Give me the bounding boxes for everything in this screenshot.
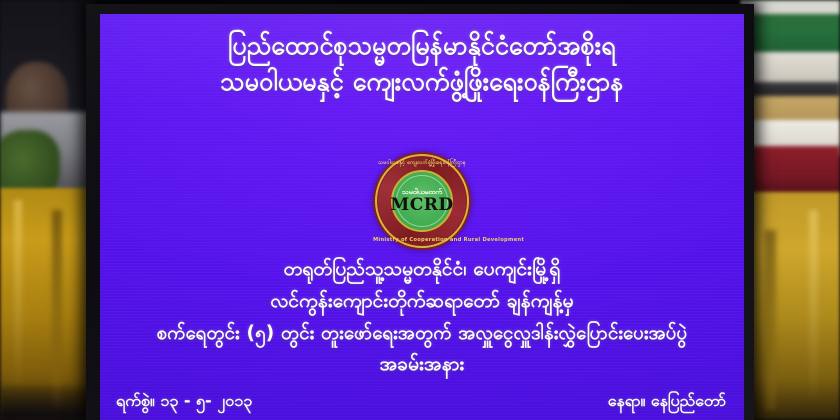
body-line-2: လင်ကွန်းကျောင်းတိုက်ဆရာတော် ချန်ကျန့်မှ <box>100 290 744 314</box>
background-floor-shadow <box>0 386 96 420</box>
background-room-right <box>740 0 840 420</box>
slide-header: ပြည်ထောင်စုသမ္မတမြန်မာနိုင်ငံတော်အစိုးရ … <box>100 30 744 103</box>
seal-arc-top-text: သမဝါယမနှင့် ကျေးလက်ဖွံ့ဖြိုးရေးဝန်ကြီးဌာ… <box>373 159 471 167</box>
curtain-fold <box>52 210 62 410</box>
seal-abbreviation: MCRD <box>390 197 453 214</box>
body-line-1: တရုတ်ပြည်သူ့သမ္မတနိုင်ငံ၊ ပေကျင်းမြို့ရှ… <box>100 258 744 282</box>
background-red-banner <box>740 146 840 198</box>
footer-date: ရက်စွဲ။ ၁၃ - ၅- ၂၀၁၃ <box>116 390 252 414</box>
header-line-1: ပြည်ထောင်စုသမ္မတမြန်မာနိုင်ငံတော်အစိုးရ <box>100 30 744 61</box>
seal-core: သမဝါယမထက် MCRD <box>393 172 451 230</box>
curtain-fold <box>809 210 818 400</box>
header-line-2: သမဝါယမနှင့် ကျေးလက်ဖွံ့ဖြိုးရေးဝန်ကြီးဌာ… <box>100 66 744 97</box>
ministry-seal-container: သမဝါယမနှင့် ကျေးလက်ဖွံ့ဖြိုးရေးဝန်ကြီးဌာ… <box>100 152 744 250</box>
background-sign-top-edge <box>740 0 840 14</box>
body-line-3: စက်ရေတွင်း (၅) တွင်း တူးဖော်ရေးအတွက် အလှ… <box>100 322 744 345</box>
background-room-left <box>0 0 96 420</box>
body-line-4: အခမ်းအနား <box>100 353 744 377</box>
curtain-fold <box>765 230 776 410</box>
seal-arc-bottom-text: Ministry of Cooperation and Rural Develo… <box>373 237 471 243</box>
footer-place: နေရာ။ နေပြည်တော် <box>608 390 726 414</box>
mcrd-seal-icon: သမဝါယမနှင့် ကျေးလက်ဖွံ့ဖြိုးရေးဝန်ကြီးဌာ… <box>373 152 471 250</box>
photograph-of-projection-screen: ပြည်ထောင်စုသမ္မတမြန်မာနိုင်ငံတော်အစိုးရ … <box>0 0 840 420</box>
slide-footer: ရက်စွဲ။ ၁၃ - ၅- ၂၀၁၃ နေရာ။ နေပြည်တော် <box>100 386 744 414</box>
curtain-fold <box>14 200 22 390</box>
presentation-slide: ပြည်ထောင်စုသမ္မတမြန်မာနိုင်ငံတော်အစိုးရ … <box>100 14 744 420</box>
background-gold-curtain-right <box>740 192 840 420</box>
slide-body: တရုတ်ပြည်သူ့သမ္မတနိုင်ငံ၊ ပေကျင်းမြို့ရှ… <box>100 258 744 384</box>
